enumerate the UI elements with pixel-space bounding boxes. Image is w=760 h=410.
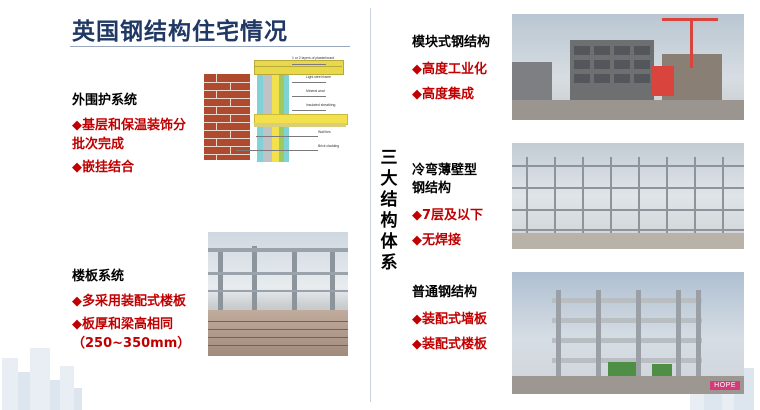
steel-frame-interior-photo [208, 232, 348, 356]
top-track-graphic [254, 60, 344, 75]
floor-plate-shadow [254, 123, 346, 127]
diagram-label-wall-ties: Wall ties [318, 130, 331, 134]
ordinary-steel-heading: 普通钢结构 [412, 284, 508, 302]
envelope-bullet-1: ◆基层和保温装饰分 批次完成 [72, 116, 192, 154]
brick-cladding-graphic [204, 74, 250, 160]
cold-formed-bullet-2: ◆无焊接 [412, 231, 508, 250]
cold-formed-steel-block: 冷弯薄壁型 钢结构 ◆7层及以下 ◆无焊接 [412, 162, 508, 250]
modular-bullet-2: ◆高度集成 [412, 85, 508, 104]
modular-steel-block: 模块式钢结构 ◆高度工业化 ◆高度集成 [412, 34, 508, 104]
diagram-label-mineral-wool: Mineral wool [306, 89, 325, 93]
envelope-system-block: 外围护系统 ◆基层和保温装饰分 批次完成 ◆嵌挂结合 [72, 92, 192, 177]
modular-bullet-1: ◆高度工业化 [412, 60, 508, 79]
leader-line-5 [256, 136, 318, 137]
envelope-system-heading: 外围护系统 [72, 92, 192, 110]
leader-line-3 [292, 96, 326, 97]
floor-bullet-2: ◆板厚和梁高相同 （250~350mm） [72, 315, 202, 353]
diagram-label-light-steel-frame: Light steel frame [306, 75, 331, 79]
ordinary-steel-structure-photo: HOPE [512, 272, 744, 394]
ordinary-steel-block: 普通钢结构 ◆装配式墙板 ◆装配式楼板 [412, 284, 508, 354]
leader-line-4 [292, 110, 326, 111]
modular-steel-construction-photo [512, 14, 744, 120]
envelope-bullet-2: ◆嵌挂结合 [72, 158, 192, 177]
diagram-label-brick-cladding: Brick cladding [318, 144, 339, 148]
top-track-line [254, 66, 342, 67]
leader-line-2 [292, 82, 326, 83]
floor-bullet-1: ◆多采用装配式楼板 [72, 292, 202, 311]
floor-system-heading: 楼板系统 [72, 268, 202, 286]
ordinary-bullet-1: ◆装配式墙板 [412, 310, 508, 329]
photo-watermark-tag: HOPE [710, 381, 740, 390]
diagram-label-plasterboard: 1 or 2 layers of plasterboard [292, 56, 334, 60]
slide-root: 英国钢结构住宅情况 三大结构体系 外围护系统 ◆基层和保温装饰分 批次完成 ◆嵌… [0, 0, 760, 410]
leader-line-6 [236, 150, 318, 151]
page-title: 英国钢结构住宅情况 [72, 12, 288, 46]
cold-formed-bullet-1: ◆7层及以下 [412, 206, 508, 225]
ordinary-bullet-2: ◆装配式楼板 [412, 335, 508, 354]
title-underline [70, 46, 350, 47]
diagram-label-insulated-sheathing: Insulated sheathing [306, 103, 335, 107]
modular-steel-heading: 模块式钢结构 [412, 34, 508, 52]
column-divider [370, 8, 371, 402]
wall-section-diagram: 1 or 2 layers of plasterboard Light stee… [196, 52, 344, 168]
cold-formed-steel-heading: 冷弯薄壁型 钢结构 [412, 162, 508, 198]
cold-formed-thin-wall-steel-photo [512, 143, 744, 249]
leader-line-1 [292, 64, 326, 65]
floor-system-block: 楼板系统 ◆多采用装配式楼板 ◆板厚和梁高相同 （250~350mm） [72, 268, 202, 353]
three-systems-label: 三大结构体系 [376, 148, 402, 274]
